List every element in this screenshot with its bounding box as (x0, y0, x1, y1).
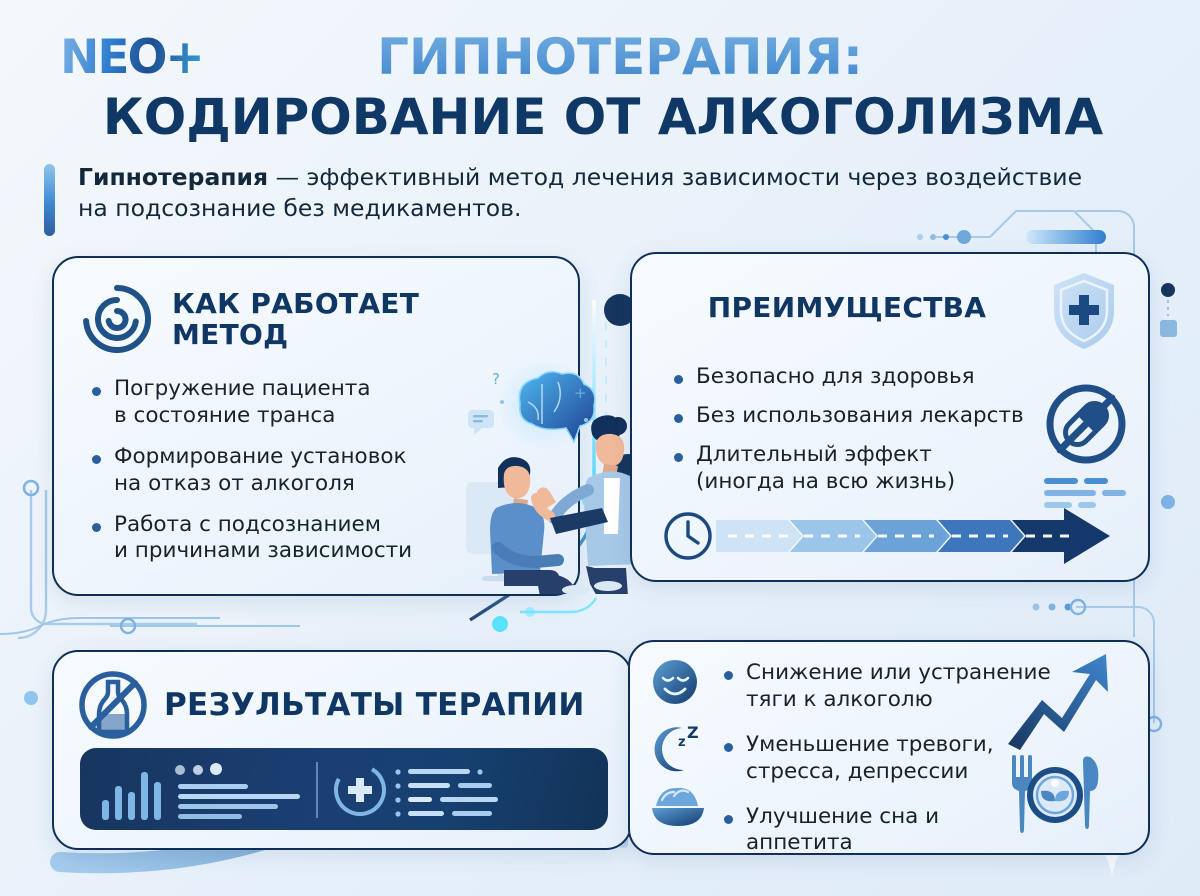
circle-plus-icon (327, 757, 393, 823)
hypnosis-spiral-icon (78, 280, 156, 358)
text-lines-icon (1044, 476, 1126, 510)
page-title: ГИПНОТЕРАПИЯ: КОДИРОВАНИЕ ОТ АЛКОГОЛИЗМА (0, 28, 1200, 146)
results-dashboard-panel (80, 748, 608, 830)
no-alcohol-bottle-icon (76, 668, 150, 742)
card-how-method-works: КАК РАБОТАЕТ МЕТОД Погружение пациента в… (52, 256, 580, 596)
card-outcomes: z Z Снижение или устранение тяги к алког… (628, 640, 1150, 855)
list-item: Улучшение сна и аппетита (722, 804, 1052, 858)
card-results-header: РЕЗУЛЬТАТЫ ТЕРАПИИ (76, 668, 585, 742)
card-advantages-title: ПРЕИМУЩЕСТВА (708, 292, 986, 323)
card-method-header: КАК РАБОТАЕТ МЕТОД (78, 280, 432, 358)
moon-sleep-icon: z Z (655, 723, 699, 771)
svg-text:?: ? (492, 370, 500, 388)
card-advantages: ПРЕИМУЩЕСТВА Безопасно для здоровья Без … (630, 252, 1150, 582)
list-item: Работа с подсознанием и причинами зависи… (90, 512, 480, 566)
infographic-root: NEO+ ГИПНОТЕРАПИЯ: КОДИРОВАНИЕ ОТ АЛКОГО… (0, 0, 1200, 896)
method-bullet-list: Погружение пациента в состояние транса Ф… (90, 376, 480, 579)
advantages-bullet-list: Безопасно для здоровья Без использования… (672, 364, 1072, 508)
title-line-1: ГИПНОТЕРАПИЯ: (40, 28, 1200, 86)
svg-text:Z: Z (687, 723, 699, 742)
healthy-meal-icon (1006, 751, 1104, 835)
no-pills-icon (1044, 382, 1128, 466)
card-method-title: КАК РАБОТАЕТ МЕТОД (172, 288, 432, 351)
list-item: Формирование установок на отказ от алког… (90, 444, 480, 498)
list-item: Без использования лекарств (672, 403, 1072, 430)
therapy-session-illustration: ? + (458, 362, 658, 594)
list-item: Длительный эффект (иногда на всю жизнь) (672, 442, 1072, 496)
list-item: Погружение пациента в состояние транса (90, 376, 480, 430)
growth-arrow-icon (1002, 646, 1114, 750)
list-item: Безопасно для здоровья (672, 364, 1072, 391)
food-bowl-icon (652, 788, 704, 826)
calm-face-icon (653, 660, 697, 704)
longevity-timeline (662, 508, 1122, 564)
subtitle-accent-bar (44, 164, 55, 236)
title-line-2: КОДИРОВАНИЕ ОТ АЛКОГОЛИЗМА (6, 88, 1200, 146)
card-results-title: РЕЗУЛЬТАТЫ ТЕРАПИИ (164, 688, 585, 723)
outcome-icons: z Z (648, 658, 708, 834)
card-therapy-results: РЕЗУЛЬТАТЫ ТЕРАПИИ (52, 650, 632, 850)
shield-plus-icon (1048, 270, 1120, 352)
subtitle-strong: Гипнотерапия (78, 163, 268, 191)
bar-chart-icon (102, 772, 161, 820)
subtitle: Гипнотерапия — эффективный метод лечения… (78, 162, 1108, 224)
svg-text:z: z (678, 735, 686, 750)
svg-text:+: + (574, 384, 587, 402)
